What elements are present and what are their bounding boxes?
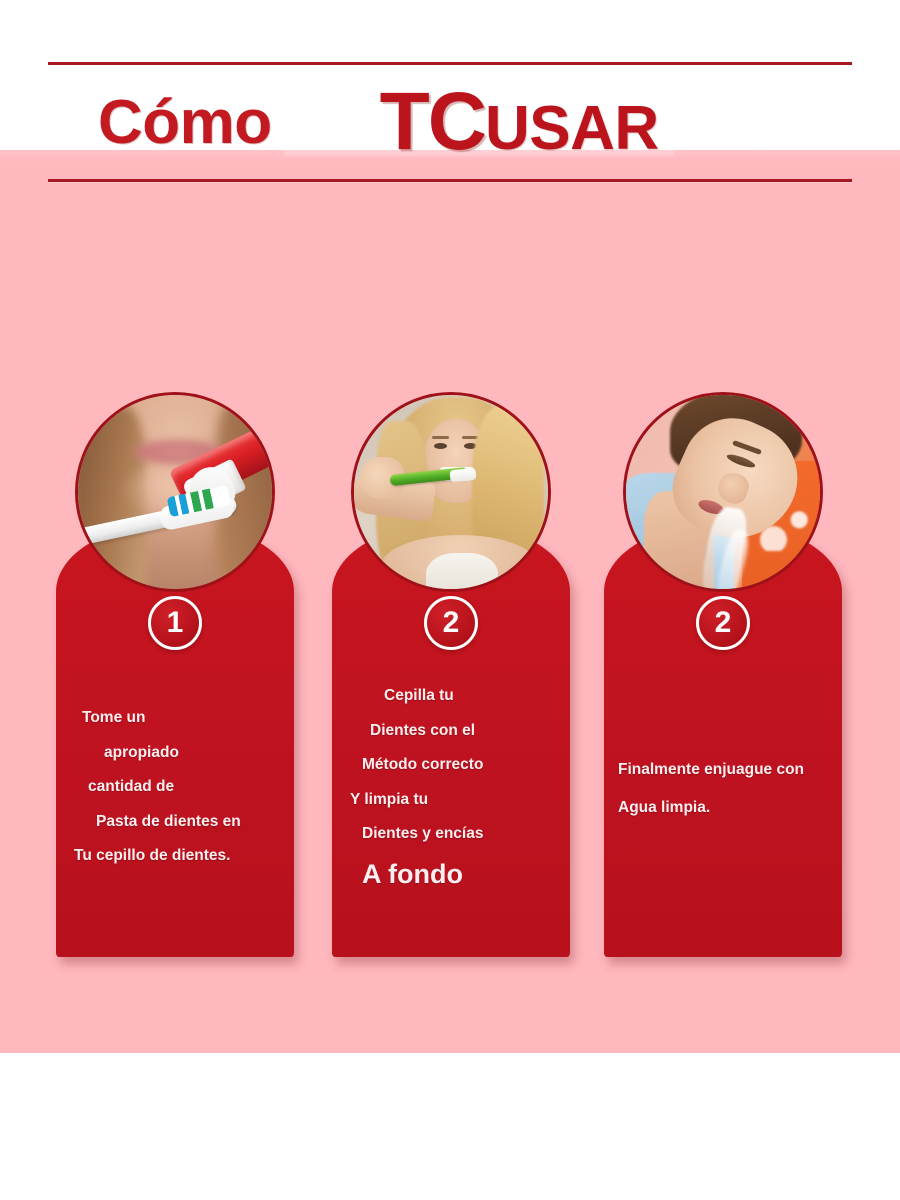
step-3-number-badge: 2: [696, 596, 750, 650]
woman-brushing-teeth-photo: [351, 392, 551, 592]
step-3-line-2: Agua limpia.: [618, 800, 832, 816]
toothpaste-on-brush-photo: [75, 392, 275, 592]
step-2-number-badge: 2: [424, 596, 478, 650]
step-1-line-1: Tome un: [82, 710, 284, 726]
step-2-line-5: Dientes y encías: [362, 826, 560, 842]
woman-rinsing-mouth-photo: [623, 392, 823, 592]
step-2-line-4: Y limpia tu: [350, 792, 560, 808]
step-3-line-1: Finalmente enjuague con: [618, 762, 832, 778]
steps-container: 1 Tome un apropiado cantidad de Pasta de…: [0, 0, 900, 1200]
step-2-emphasis: A fondo: [362, 861, 560, 888]
step-3-copy: Finalmente enjuague con Agua limpia.: [604, 762, 842, 815]
step-2-line-2: Dientes con el: [370, 723, 560, 739]
step-2-copy: Cepilla tu Dientes con el Método correct…: [332, 688, 570, 888]
step-1-copy: Tome un apropiado cantidad de Pasta de d…: [56, 710, 294, 864]
step-1-line-3: cantidad de: [88, 779, 284, 795]
step-2-line-3: Método correcto: [362, 757, 560, 773]
step-2-line-1: Cepilla tu: [384, 688, 560, 704]
step-1-number-badge: 1: [148, 596, 202, 650]
how-to-use-poster: Cómo TC USAR: [0, 0, 900, 1200]
step-1-line-5: Tu cepillo de dientes.: [74, 848, 284, 864]
step-1-line-4: Pasta de dientes en: [96, 814, 284, 830]
step-1-line-2: apropiado: [104, 745, 284, 761]
